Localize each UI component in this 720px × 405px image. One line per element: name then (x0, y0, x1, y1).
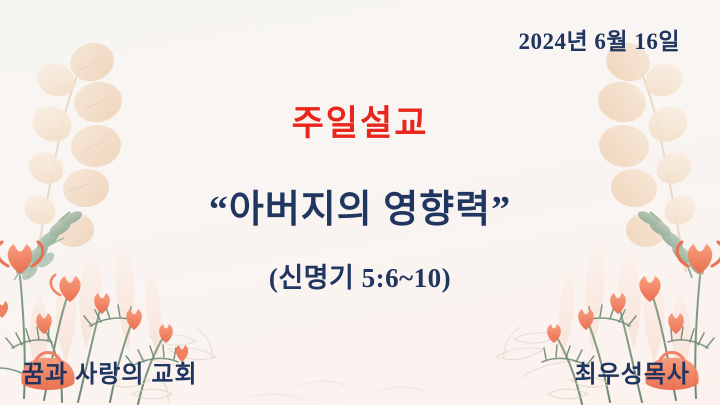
scripture-reference: (신명기 5:6~10) (0, 256, 720, 295)
church-name: 꿈과 사랑의 교회 (22, 354, 198, 389)
sermon-title: “아버지의 영향력” (0, 188, 720, 234)
sermon-announcement-slide: 2024년 6월 16일 주일설교 “아버지의 영향력” (신명기 5:6~10… (0, 0, 720, 405)
service-date: 2024년 6월 16일 (519, 22, 680, 56)
sermon-info-block: 주일설교 “아버지의 영향력” (신명기 5:6~10) (0, 104, 720, 295)
pastor-name: 최우성목사 (575, 354, 690, 389)
sermon-type-heading: 주일설교 (0, 104, 720, 144)
